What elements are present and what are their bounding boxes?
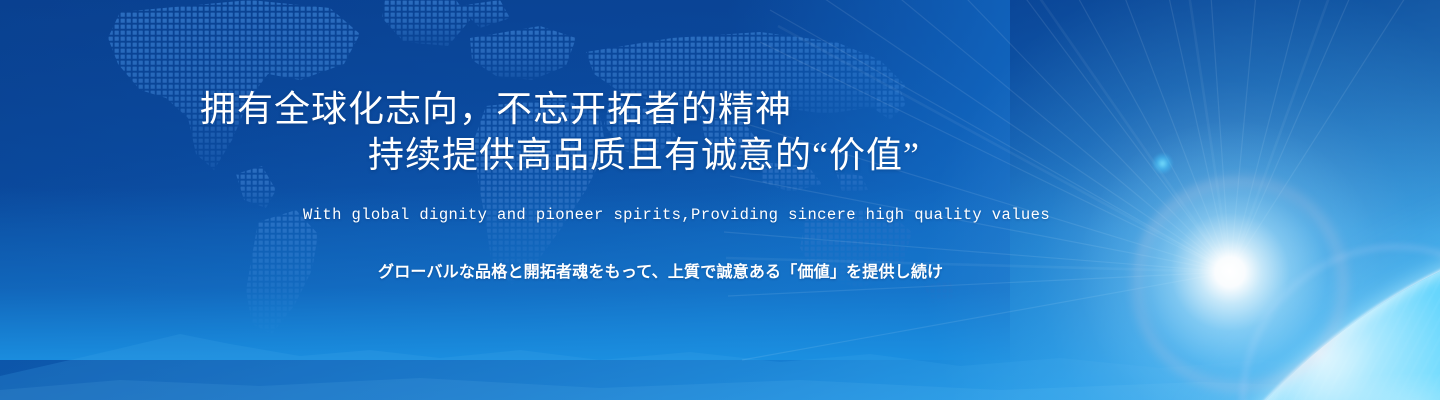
tagline-english: With global dignity and pioneer spirits,… — [303, 206, 1050, 224]
hero-banner: 拥有全球化志向，不忘开拓者的精神 持续提供高品质且有诚意的“价值” With g… — [0, 0, 1440, 400]
banner-copy: 拥有全球化志向，不忘开拓者的精神 持续提供高品质且有诚意的“价值” With g… — [0, 0, 1440, 400]
headline-line-1: 拥有全球化志向，不忘开拓者的精神 — [200, 89, 792, 129]
headline: 拥有全球化志向，不忘开拓者的精神 持续提供高品质且有诚意的“价值” — [200, 86, 920, 178]
tagline-japanese: グローバルな品格と開拓者魂をもって、上質で誠意ある「価値」を提供し続け — [378, 258, 943, 282]
headline-line-2: 持续提供高品质且有诚意的“价值” — [200, 132, 920, 178]
